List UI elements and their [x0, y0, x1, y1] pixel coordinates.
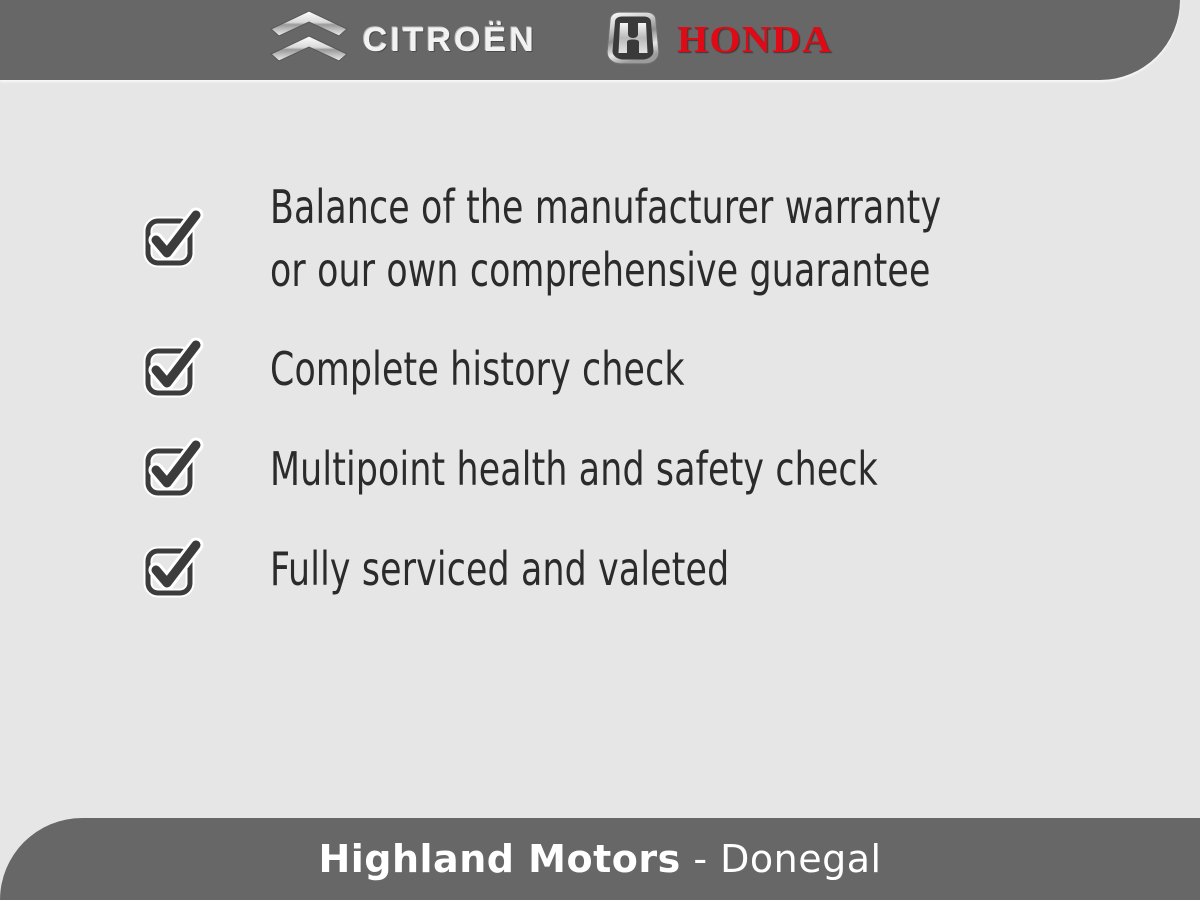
honda-logo: HONDA — [601, 9, 823, 71]
list-item-label: Multipoint health and safety check — [270, 438, 878, 501]
checked-checkbox-icon — [140, 537, 204, 601]
citroen-double-chevron-icon — [267, 9, 351, 72]
list-item: Balance of the manufacturer warranty or … — [140, 176, 1100, 301]
honda-wordmark: HONDA — [677, 21, 832, 59]
list-item-label: Balance of the manufacturer warranty or … — [270, 176, 941, 301]
list-item: Multipoint health and safety check — [140, 437, 1100, 501]
dealer-name: Highland Motors — [318, 837, 680, 881]
list-item: Complete history check — [140, 337, 1100, 401]
header-bar: CITROËN — [0, 0, 1180, 80]
footer-bar: Highland Motors - Donegal — [0, 818, 1200, 900]
checked-checkbox-icon — [140, 437, 204, 501]
citroen-wordmark: CITROËN — [363, 23, 537, 57]
list-item-label: Complete history check — [270, 338, 685, 401]
list-item: Fully serviced and valeted — [140, 537, 1100, 601]
dealer-location: Donegal — [720, 837, 881, 881]
checked-checkbox-icon — [140, 207, 204, 271]
honda-h-emblem-icon — [601, 8, 665, 73]
dealer-banner: Highland Motors - Donegal — [318, 840, 881, 878]
list-item-label: Fully serviced and valeted — [270, 538, 729, 601]
checked-checkbox-icon — [140, 337, 204, 401]
brand-logo-row: CITROËN — [0, 0, 1180, 80]
citroen-logo: CITROËN — [267, 9, 537, 71]
promo-slide: CITROËN — [0, 0, 1200, 900]
dealer-separator: - — [681, 837, 720, 881]
benefits-checklist: Balance of the manufacturer warranty or … — [140, 176, 1100, 601]
